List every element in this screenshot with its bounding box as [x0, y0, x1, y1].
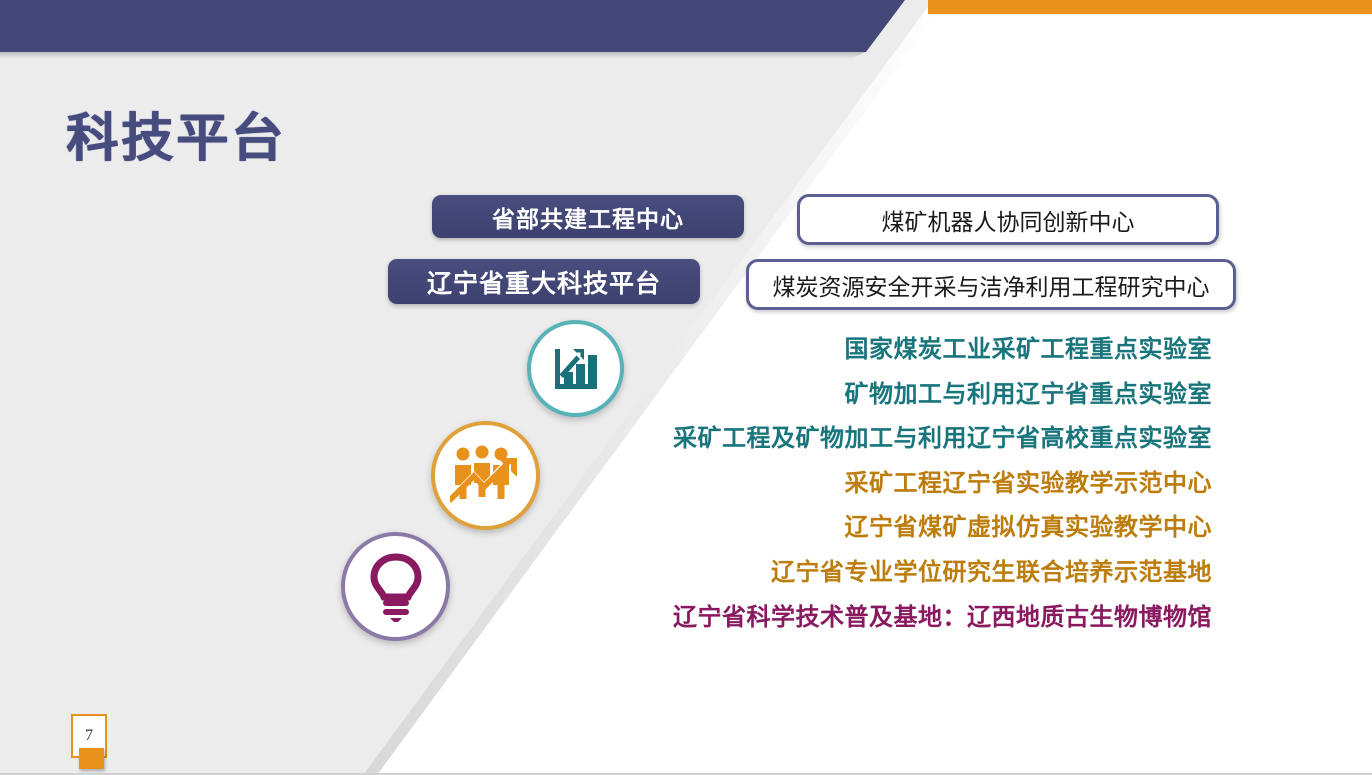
platform-label-1[interactable]: 辽宁省重大科技平台 — [388, 259, 700, 304]
platform-value-1[interactable]: 煤炭资源安全开采与洁净利用工程研究中心 — [746, 259, 1236, 310]
achievement-item-4: 辽宁省煤矿虚拟仿真实验教学中心 — [600, 506, 1212, 551]
page-number-accent-square — [79, 748, 104, 769]
achievement-item-1: 矿物加工与利用辽宁省重点实验室 — [600, 373, 1212, 418]
people-growth-arrow-icon — [431, 421, 540, 530]
people-growth-arrow-glyph — [450, 445, 522, 507]
achievement-item-3: 采矿工程辽宁省实验教学示范中心 — [600, 462, 1212, 507]
slide-canvas: 科技平台 省部共建工程中心 煤矿机器人协同创新中心 辽宁省重大科技平台 煤炭资源… — [0, 0, 1372, 775]
platform-value-0[interactable]: 煤矿机器人协同创新中心 — [797, 194, 1219, 245]
bar-chart-growth-glyph — [550, 343, 602, 395]
top-navy-bar — [0, 0, 950, 52]
lightbulb-glyph — [366, 552, 426, 622]
achievement-item-6: 辽宁省科学技术普及基地：辽西地质古生物博物馆 — [600, 596, 1212, 641]
page-title: 科技平台 — [66, 96, 286, 171]
achievement-list: 国家煤炭工业采矿工程重点实验室 矿物加工与利用辽宁省重点实验室 采矿工程及矿物加… — [600, 328, 1212, 640]
navy-bar-shadow — [0, 52, 880, 59]
achievement-item-5: 辽宁省专业学位研究生联合培养示范基地 — [600, 551, 1212, 596]
top-orange-bar — [928, 0, 1372, 14]
achievement-item-0: 国家煤炭工业采矿工程重点实验室 — [600, 328, 1212, 373]
achievement-item-2: 采矿工程及矿物加工与利用辽宁省高校重点实验室 — [600, 417, 1212, 462]
platform-label-0[interactable]: 省部共建工程中心 — [432, 195, 744, 238]
lightbulb-icon — [341, 532, 450, 641]
